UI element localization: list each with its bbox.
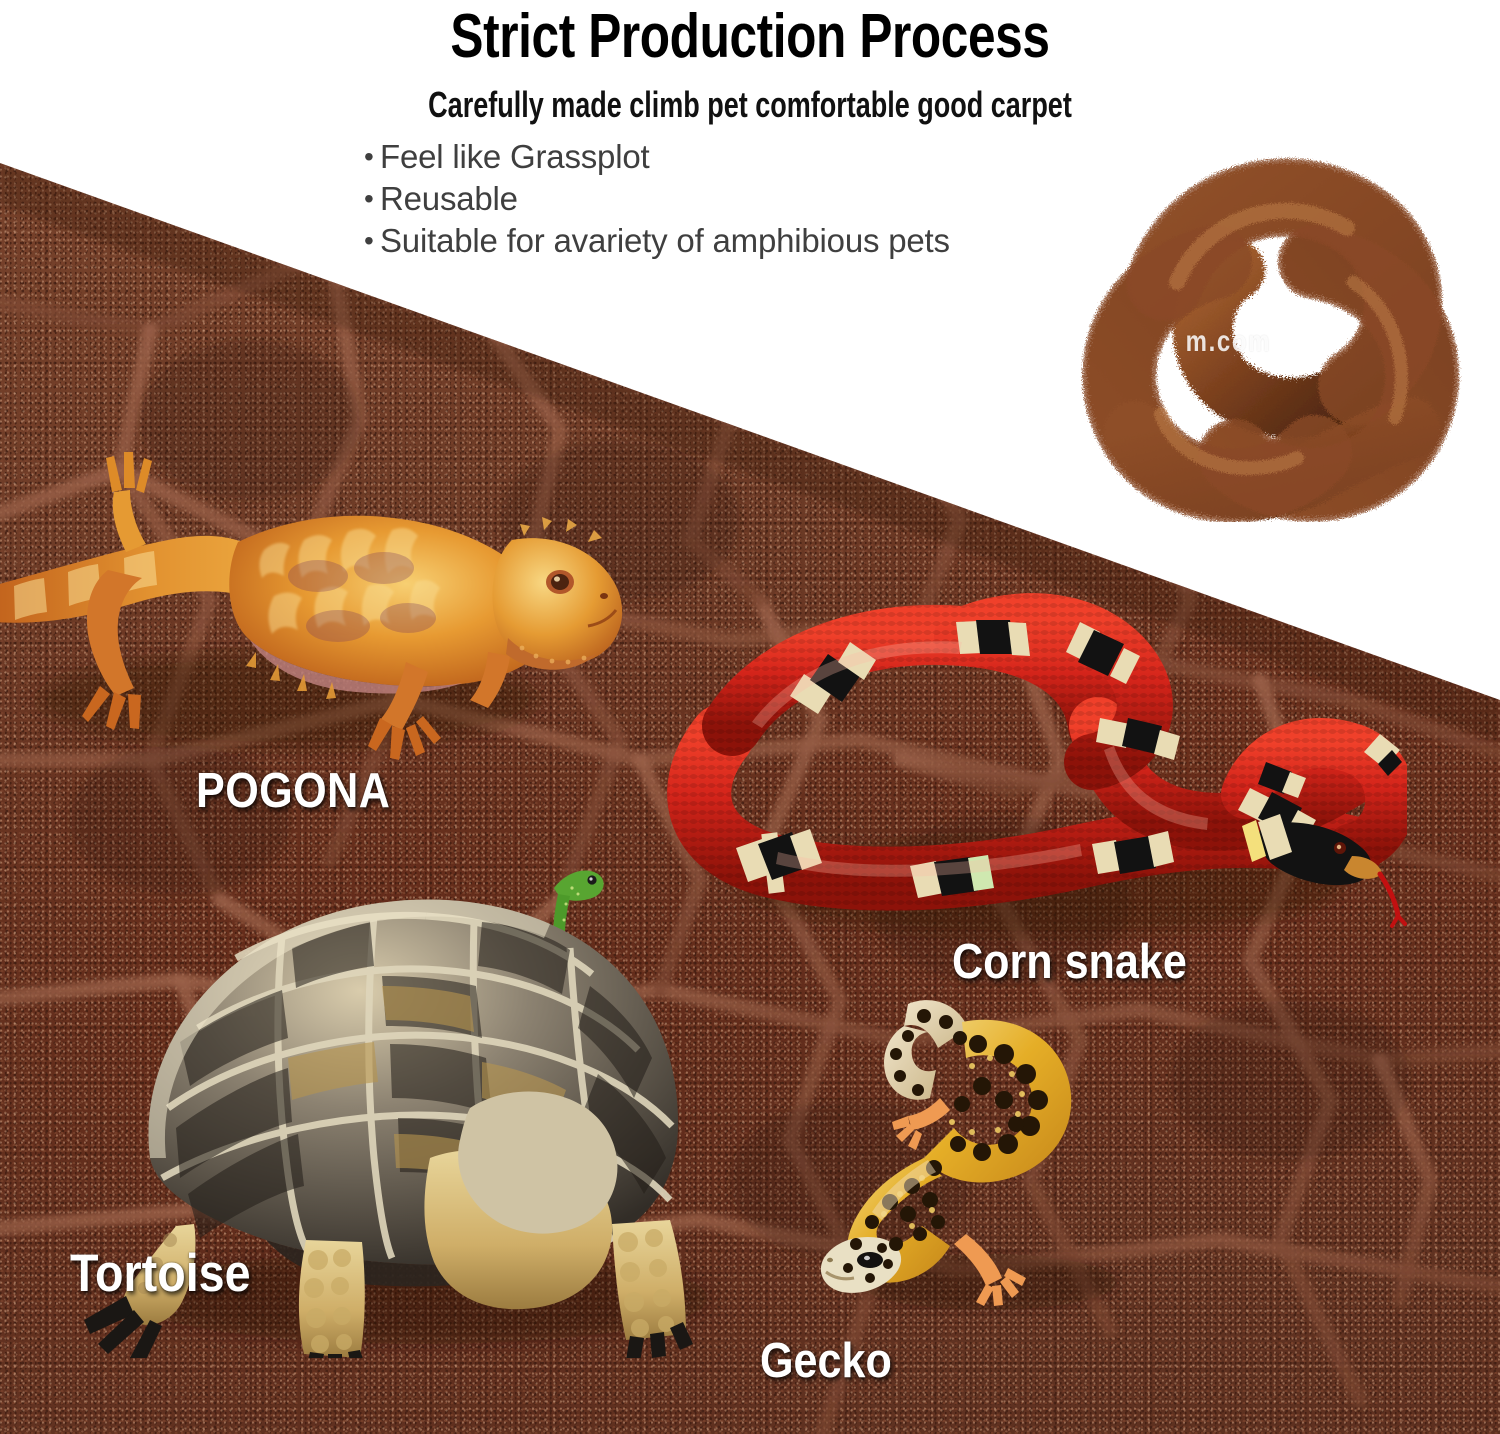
list-item-label: Suitable for avariety of amphibious pets	[380, 222, 950, 259]
bullet-dot-icon: •	[364, 220, 380, 262]
label-tortoise: Tortoise	[70, 1243, 251, 1304]
feature-bullet-list: •Feel like Grassplot •Reusable •Suitable…	[364, 136, 1124, 262]
bullet-dot-icon: •	[364, 136, 380, 178]
bearded-dragon-photo	[0, 400, 638, 770]
list-item: •Reusable	[364, 178, 1124, 220]
page-subtitle: Carefully made climb pet comfortable goo…	[188, 84, 1313, 126]
list-item: •Suitable for avariety of amphibious pet…	[364, 220, 1124, 262]
label-corn-snake: Corn snake	[952, 934, 1187, 990]
list-item-label: Reusable	[380, 180, 518, 217]
bullet-dot-icon: •	[364, 178, 380, 220]
list-item: •Feel like Grassplot	[364, 136, 1124, 178]
label-pogona: POGONA	[196, 763, 390, 819]
watermark-text: m.com	[1186, 325, 1271, 359]
page-title: Strict Production Process	[150, 2, 1350, 72]
leopard-gecko-photo	[812, 982, 1152, 1322]
label-gecko: Gecko	[760, 1333, 892, 1389]
product-marketing-image: Strict Production Process Carefully made…	[0, 0, 1500, 1434]
list-item-label: Feel like Grassplot	[380, 138, 649, 175]
